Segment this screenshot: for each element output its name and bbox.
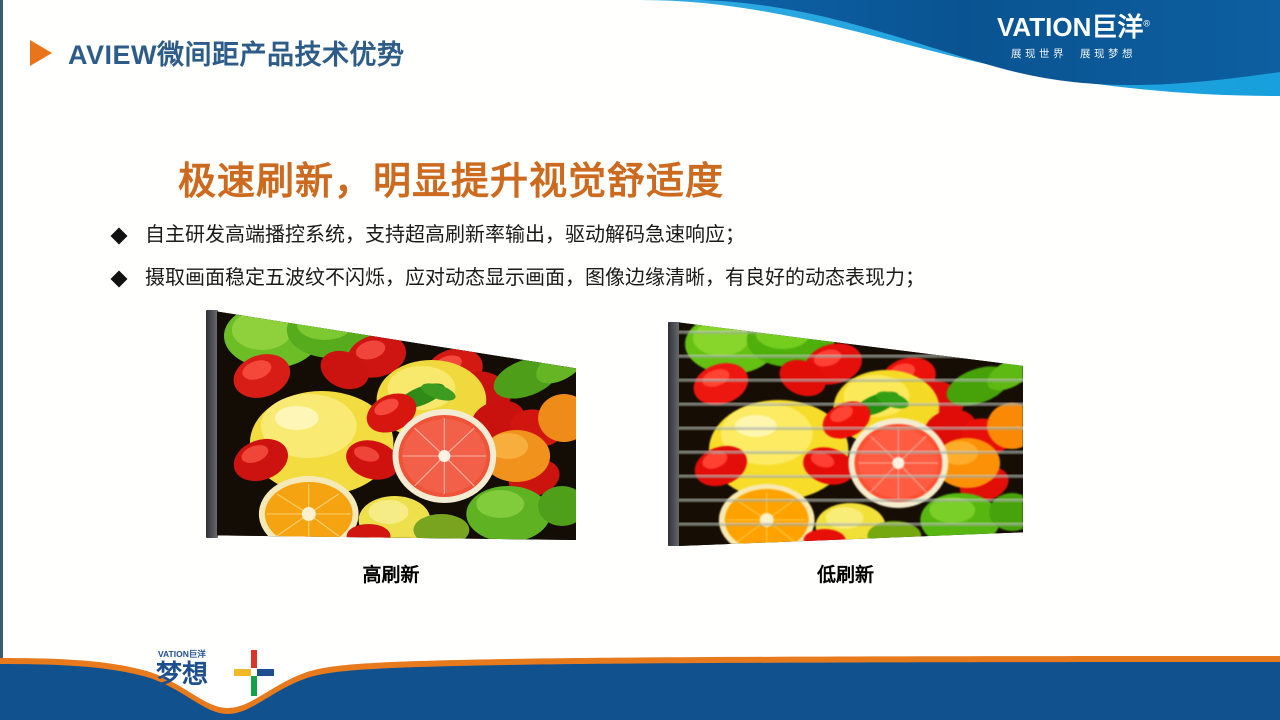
screen-mockup-low-refresh <box>668 318 1023 548</box>
play-triangle-icon <box>30 40 52 66</box>
screen-panel <box>217 308 576 540</box>
brand-tagline: 展现世界 展现梦想 <box>997 46 1150 61</box>
slide-title-row: AVIEW微间距产品技术优势 <box>30 33 405 72</box>
fruit-image-sharp <box>217 308 576 540</box>
fruit-image-blurred <box>679 318 1023 546</box>
comparison-item-high-refresh: 高刷新 <box>206 308 576 587</box>
header-brand-logo: VATION巨洋® 展现世界 展现梦想 <box>997 14 1150 61</box>
comparison-item-low-refresh: 低刷新 <box>668 318 1023 587</box>
screen-bezel <box>668 322 680 546</box>
bullet-text: 摄取画面稳定五波纹不闪烁，应对动态显示画面，图像边缘清晰，有良好的动态表现力； <box>145 265 925 292</box>
slide: AVIEW微间距产品技术优势 VATION巨洋® 展现世界 展现梦想 极速刷新，… <box>0 0 1280 720</box>
brand-wordmark: VATION巨洋® <box>997 14 1150 40</box>
diamond-bullet-icon <box>111 228 128 245</box>
bullet-list: 自主研发高端播控系统，支持超高刷新率输出，驱动解码急速响应； 摄取画面稳定五波纹… <box>113 222 1213 308</box>
list-item: 自主研发高端播控系统，支持超高刷新率输出，驱动解码急速响应； <box>113 222 1213 249</box>
section-heading: 极速刷新，明显提升视觉舒适度 <box>178 150 724 205</box>
list-item: 摄取画面稳定五波纹不闪烁，应对动态显示画面，图像边缘清晰，有良好的动态表现力； <box>113 265 1213 292</box>
pinwheel-plus-icon <box>234 650 274 696</box>
caption-low-refresh: 低刷新 <box>668 560 1023 587</box>
slide-background <box>3 0 1280 666</box>
screen-bezel <box>206 310 218 538</box>
diamond-bullet-icon <box>111 271 128 288</box>
caption-high-refresh: 高刷新 <box>206 560 576 587</box>
brand-tagline-left: 展现世界 <box>1011 48 1067 60</box>
registered-mark-icon: ® <box>1143 18 1150 28</box>
footer-brand-logo: VATION巨洋 梦想 <box>156 648 276 702</box>
page-title: AVIEW微间距产品技术优势 <box>68 33 405 72</box>
brand-latin: VATION <box>997 12 1091 42</box>
brand-cn: 巨洋 <box>1091 12 1143 42</box>
bullet-text: 自主研发高端播控系统，支持超高刷新率输出，驱动解码急速响应； <box>145 222 745 249</box>
brand-tagline-right: 展现梦想 <box>1080 48 1136 60</box>
screen-mockup-high-refresh <box>206 308 576 548</box>
screen-panel <box>679 318 1023 546</box>
